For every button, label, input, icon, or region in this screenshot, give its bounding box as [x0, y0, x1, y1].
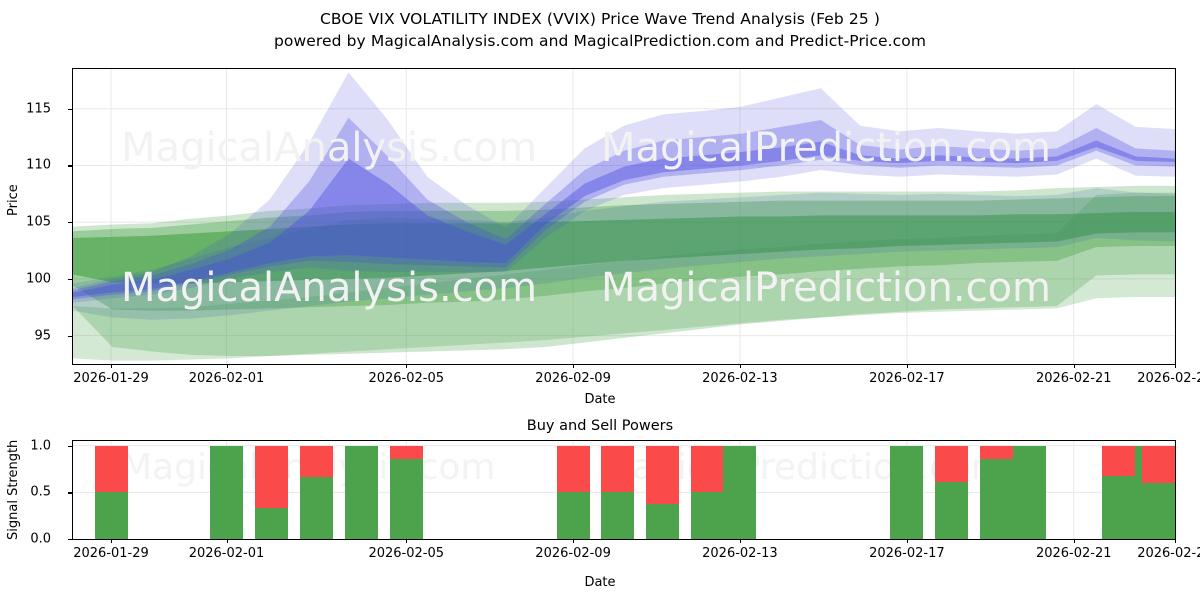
- price-x-tick-label: 2026-02-25: [1137, 371, 1200, 386]
- signal-x-tick-mark: [1175, 539, 1176, 543]
- buy-power-bar: [557, 492, 590, 539]
- buy-power-bar: [890, 446, 923, 539]
- signal-x-tick-label: 2026-02-25: [1137, 546, 1200, 561]
- buy-power-bar: [646, 504, 679, 539]
- buy-power-bar: [345, 446, 378, 539]
- price-x-tick-mark: [1074, 364, 1075, 368]
- signal-x-tick-mark: [111, 539, 112, 543]
- price-x-tick-mark: [406, 364, 407, 368]
- price-chart-plot-area: MagicalAnalysis.com MagicalPrediction.co…: [72, 68, 1176, 365]
- signal-x-tick-label: 2026-02-05: [368, 546, 444, 561]
- sell-power-bar: [935, 446, 968, 482]
- signal-x-tick-label: 2026-02-17: [869, 546, 945, 561]
- sell-power-bar: [980, 446, 1013, 459]
- signal-y-tick-mark: [68, 492, 72, 493]
- buy-power-bar: [723, 446, 756, 539]
- signal-x-tick-mark: [573, 539, 574, 543]
- signal-x-tick-mark: [227, 539, 228, 543]
- price-x-tick-label: 2026-02-05: [368, 371, 444, 386]
- price-y-tick-mark: [68, 336, 72, 337]
- sell-power-bar: [1142, 446, 1175, 483]
- buy-power-bar: [300, 477, 333, 539]
- signal-x-tick-label: 2026-02-09: [535, 546, 611, 561]
- signal-chart-title: Buy and Sell Powers: [0, 418, 1200, 434]
- price-y-tick-mark: [68, 109, 72, 110]
- buy-power-bar: [935, 482, 968, 539]
- sell-power-bar: [95, 446, 128, 493]
- sell-power-bar: [601, 446, 634, 493]
- buy-power-bar: [255, 508, 288, 539]
- sell-power-bar: [646, 446, 679, 504]
- signal-y-tick-mark: [68, 539, 72, 540]
- chart-page: CBOE VIX VOLATILITY INDEX (VVIX) Price W…: [0, 0, 1200, 600]
- signal-y-axis-title: Signal Strength: [6, 440, 21, 540]
- buy-power-bar: [1142, 483, 1175, 539]
- signal-x-axis-title: Date: [0, 575, 1200, 590]
- price-y-tick-label: 105: [0, 215, 60, 230]
- price-x-tick-mark: [907, 364, 908, 368]
- price-x-tick-mark: [740, 364, 741, 368]
- buy-power-bar: [601, 492, 634, 539]
- signal-y-tick-mark: [68, 446, 72, 447]
- price-x-tick-label: 2026-02-21: [1036, 371, 1112, 386]
- buy-power-bar: [1102, 476, 1135, 539]
- signal-x-tick-label: 2026-02-21: [1036, 546, 1112, 561]
- chart-title-line-2: powered by MagicalAnalysis.com and Magic…: [0, 30, 1200, 52]
- sell-power-bar: [1102, 446, 1135, 477]
- price-wave-svg: [73, 69, 1175, 364]
- buy-power-bar: [980, 459, 1013, 539]
- buy-power-bar: [1013, 446, 1046, 539]
- signal-x-tick-label: 2026-01-29: [73, 546, 149, 561]
- price-y-tick-label: 100: [0, 271, 60, 286]
- sell-power-bar: [557, 446, 590, 493]
- price-x-tick-mark: [227, 364, 228, 368]
- price-x-tick-mark: [1175, 364, 1176, 368]
- buy-power-bar: [95, 492, 128, 539]
- buy-power-bar: [390, 459, 423, 539]
- price-y-tick-label: 110: [0, 158, 60, 173]
- signal-x-tick-mark: [907, 539, 908, 543]
- price-y-tick-mark: [68, 279, 72, 280]
- price-x-axis-title: Date: [0, 392, 1200, 407]
- sell-power-bar: [300, 446, 333, 478]
- price-x-tick-mark: [573, 364, 574, 368]
- price-x-tick-label: 2026-01-29: [73, 371, 149, 386]
- signal-x-tick-label: 2026-02-13: [702, 546, 778, 561]
- price-x-tick-label: 2026-02-01: [189, 371, 265, 386]
- price-y-tick-mark: [68, 222, 72, 223]
- price-y-tick-mark: [68, 165, 72, 166]
- sell-power-bar: [390, 446, 423, 459]
- signal-chart-plot-area: MagicalAnalysis.com MagicalPrediction.co…: [72, 440, 1176, 540]
- price-x-tick-label: 2026-02-09: [535, 371, 611, 386]
- chart-title-block: CBOE VIX VOLATILITY INDEX (VVIX) Price W…: [0, 8, 1200, 52]
- signal-x-tick-mark: [1074, 539, 1075, 543]
- signal-x-tick-mark: [740, 539, 741, 543]
- signal-bars-layer: [73, 441, 1175, 539]
- sell-power-bar: [691, 446, 724, 493]
- sell-power-bar: [255, 446, 288, 509]
- price-x-tick-label: 2026-02-17: [869, 371, 945, 386]
- price-y-tick-label: 95: [0, 328, 60, 343]
- price-y-axis-title: Price: [6, 184, 21, 216]
- chart-title-line-1: CBOE VIX VOLATILITY INDEX (VVIX) Price W…: [0, 8, 1200, 30]
- price-x-tick-label: 2026-02-13: [702, 371, 778, 386]
- signal-x-tick-label: 2026-02-01: [189, 546, 265, 561]
- price-x-tick-mark: [111, 364, 112, 368]
- price-y-tick-label: 115: [0, 101, 60, 116]
- signal-x-tick-mark: [406, 539, 407, 543]
- buy-power-bar: [691, 492, 724, 539]
- buy-power-bar: [210, 446, 243, 539]
